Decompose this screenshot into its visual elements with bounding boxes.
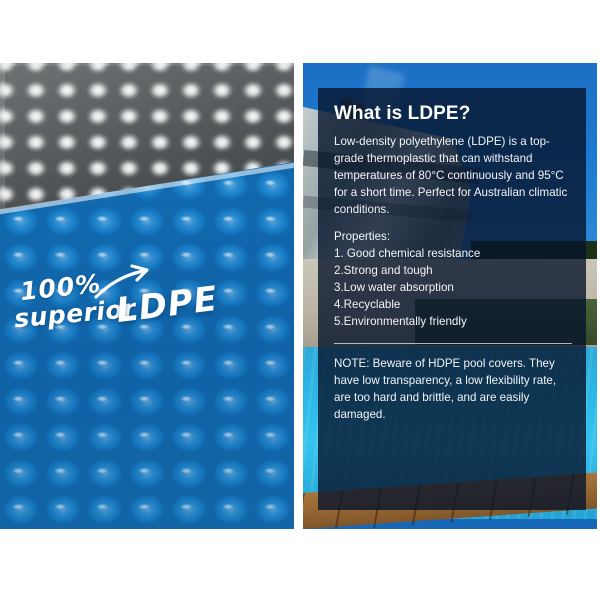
properties-list: 1. Good chemical resistance 2.Strong and… (334, 245, 576, 330)
list-item: 1. Good chemical resistance (334, 245, 576, 262)
pool-scene-photo: What is LDPE? Low-density polyethylene (… (303, 63, 597, 529)
list-item: 3.Low water absorption (334, 279, 576, 296)
overlay-note: NOTE: Beware of HDPE pool covers. They h… (334, 355, 576, 423)
overlay-paragraph: Low-density polyethylene (LDPE) is a top… (334, 133, 576, 218)
properties-label: Properties: (334, 228, 576, 245)
headline-ldpe: LDPE (114, 279, 220, 331)
info-overlay-content: What is LDPE? Low-density polyethylene (… (334, 104, 576, 423)
handwritten-headline: 100% superior LDPE (14, 273, 234, 345)
list-item: 2.Strong and tough (334, 262, 576, 279)
product-infographic: 100% superior LDPE What is LDPE? Low-den… (0, 0, 600, 600)
section-divider (334, 343, 572, 344)
pool-cover-texture-photo: 100% superior LDPE (0, 63, 294, 529)
overlay-title: What is LDPE? (334, 104, 576, 124)
info-overlay-panel: What is LDPE? Low-density polyethylene (… (318, 88, 586, 510)
list-item: 5.Environmentally friendly (334, 313, 576, 330)
list-item: 4.Recyclable (334, 296, 576, 313)
